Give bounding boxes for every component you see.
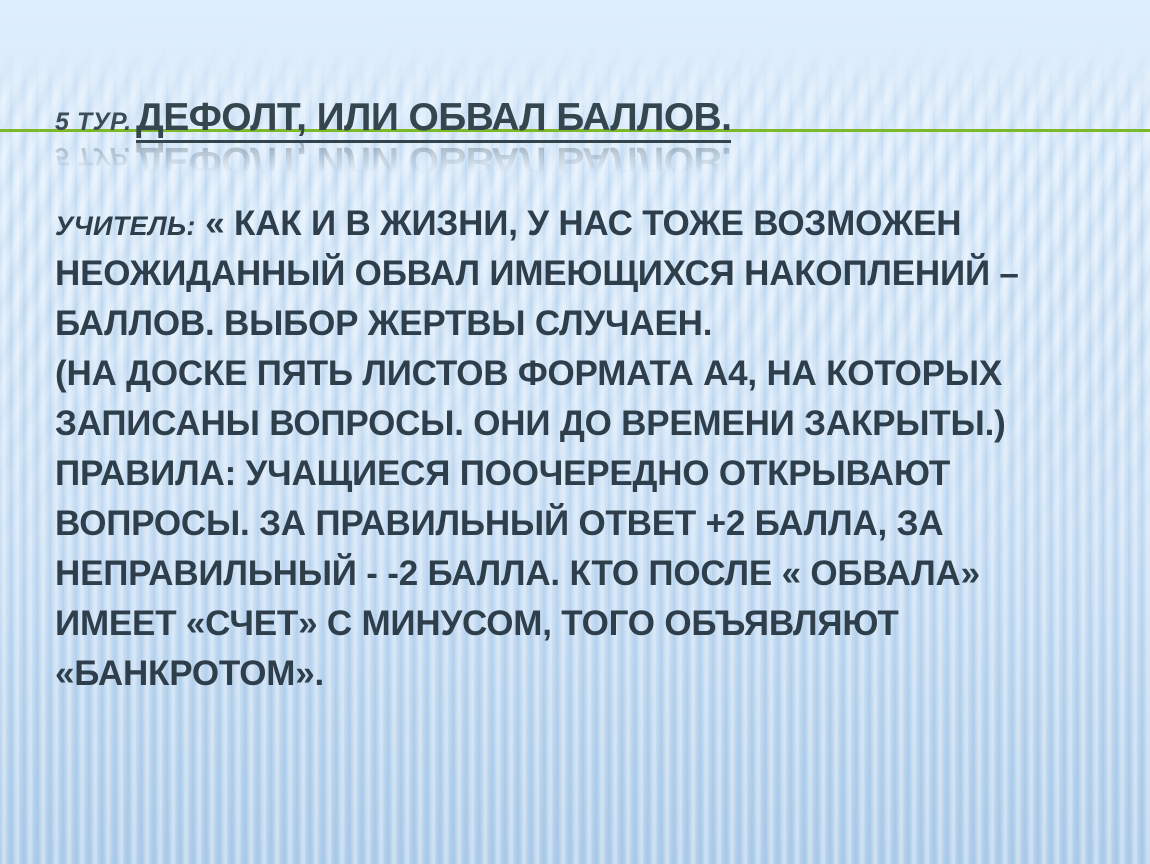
title-main: ДЕФОЛТ, ИЛИ ОБВАЛ БАЛЛОВ. <box>136 96 731 143</box>
title-prefix: 5 ТУР. <box>55 108 132 136</box>
body-row: БАЛЛОВ. ВЫБОР ЖЕРТВЫ СЛУЧАЕН. БАЛЛОВ. ВЫ… <box>55 303 1125 353</box>
body-row: НЕОЖИДАННЫЙ ОБВАЛ ИМЕЮЩИХСЯ НАКОПЛЕНИЙ –… <box>55 253 1125 303</box>
body-row: ПРАВИЛА: УЧАЩИЕСЯ ПООЧЕРЕДНО ОТКРЫВАЮТ П… <box>55 453 1125 503</box>
body-line: ПРАВИЛА: УЧАЩИЕСЯ ПООЧЕРЕДНО ОТКРЫВАЮТ <box>55 453 950 495</box>
body-row: УЧИТЕЛЬ: « КАК И В ЖИЗНИ, У НАС ТОЖЕ ВОЗ… <box>55 203 1125 253</box>
body-row: ИМЕЕТ «СЧЕТ» С МИНУСОМ, ТОГО ОБЪЯВЛЯЮТ И… <box>55 603 1125 653</box>
body-row: «БАНКРОТОМ». «БАНКРОТОМ». <box>55 653 1125 703</box>
title-main-reflection: ДЕФОЛТ, ИЛИ ОБВАЛ БАЛЛОВ. <box>136 140 731 180</box>
speaker-label: УЧИТЕЛЬ: <box>55 211 196 241</box>
body-line: ИМЕЕТ «СЧЕТ» С МИНУСОМ, ТОГО ОБЪЯВЛЯЮТ <box>55 603 899 645</box>
slide-body-text: УЧИТЕЛЬ: « КАК И В ЖИЗНИ, У НАС ТОЖЕ ВОЗ… <box>55 203 1125 703</box>
body-line-text: « КАК И В ЖИЗНИ, У НАС ТОЖЕ ВОЗМОЖЕН <box>205 204 961 243</box>
body-row: НЕПРАВИЛЬНЫЙ - -2 БАЛЛА. КТО ПОСЛЕ « ОБВ… <box>55 553 1125 603</box>
body-line: ВОПРОСЫ. ЗА ПРАВИЛЬНЫЙ ОТВЕТ +2 БАЛЛА, З… <box>55 503 943 545</box>
title-prefix-reflection: 5 ТУР. <box>55 142 132 170</box>
body-row: ВОПРОСЫ. ЗА ПРАВИЛЬНЫЙ ОТВЕТ +2 БАЛЛА, З… <box>55 503 1125 553</box>
body-line: «БАНКРОТОМ». <box>55 653 324 695</box>
body-line: БАЛЛОВ. ВЫБОР ЖЕРТВЫ СЛУЧАЕН. <box>55 303 712 345</box>
body-line: (НА ДОСКЕ ПЯТЬ ЛИСТОВ ФОРМАТА А4, НА КОТ… <box>55 353 1002 395</box>
slide-title: 5 ТУР. ДЕФОЛТ, ИЛИ ОБВАЛ БАЛЛОВ. <box>55 98 1115 144</box>
body-line: НЕПРАВИЛЬНЫЙ - -2 БАЛЛА. КТО ПОСЛЕ « ОБВ… <box>55 553 980 595</box>
slide-title-reflection: 5 ТУР. ДЕФОЛТ, ИЛИ ОБВАЛ БАЛЛОВ. <box>55 140 1115 180</box>
body-line: УЧИТЕЛЬ: « КАК И В ЖИЗНИ, У НАС ТОЖЕ ВОЗ… <box>55 203 961 247</box>
body-row: (НА ДОСКЕ ПЯТЬ ЛИСТОВ ФОРМАТА А4, НА КОТ… <box>55 353 1125 403</box>
presentation-slide: 5 ТУР. ДЕФОЛТ, ИЛИ ОБВАЛ БАЛЛОВ. 5 ТУР. … <box>0 0 1150 864</box>
body-line: НЕОЖИДАННЫЙ ОБВАЛ ИМЕЮЩИХСЯ НАКОПЛЕНИЙ – <box>55 253 1019 295</box>
body-row: ЗАПИСАНЫ ВОПРОСЫ. ОНИ ДО ВРЕМЕНИ ЗАКРЫТЫ… <box>55 403 1125 453</box>
title-line: 5 ТУР. ДЕФОЛТ, ИЛИ ОБВАЛ БАЛЛОВ. <box>55 98 1115 138</box>
body-line: ЗАПИСАНЫ ВОПРОСЫ. ОНИ ДО ВРЕМЕНИ ЗАКРЫТЫ… <box>55 403 1006 445</box>
title-reflection-line: 5 ТУР. ДЕФОЛТ, ИЛИ ОБВАЛ БАЛЛОВ. <box>55 140 1115 180</box>
